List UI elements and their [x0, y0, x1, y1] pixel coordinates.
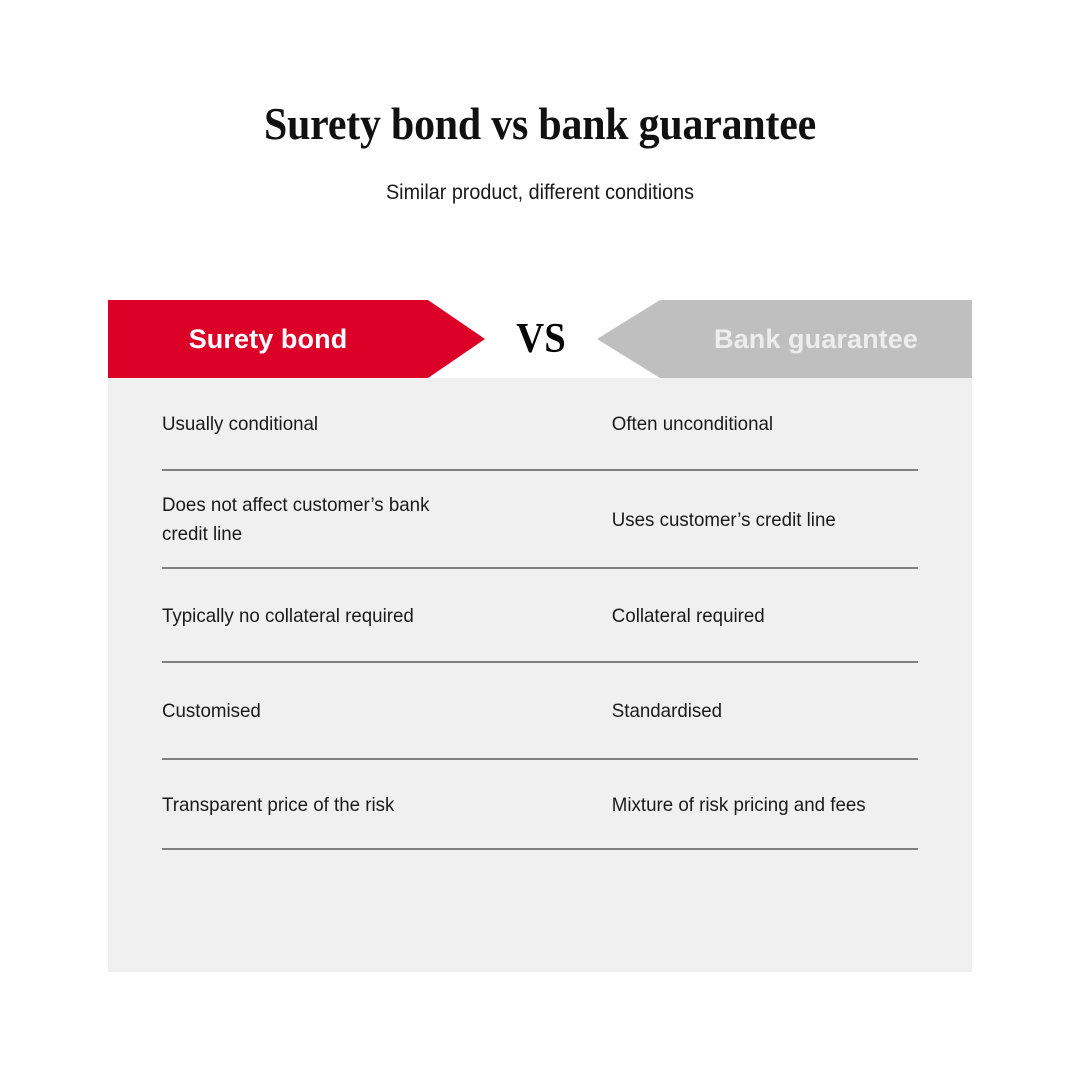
table-row: Typically no collateral required Collate… — [108, 569, 972, 663]
row-divider — [162, 848, 918, 850]
comparison-panel: Surety bond VS Bank guarantee Usually co… — [108, 300, 972, 972]
table-row: Does not affect customer’s bank credit l… — [108, 471, 972, 569]
page-title: Surety bond vs bank guarantee — [38, 98, 1042, 150]
comparison-infographic: Surety bond vs bank guarantee Similar pr… — [0, 0, 1080, 1080]
table-row: Customised Standardised — [108, 663, 972, 760]
row-left-value: Does not affect customer’s bank credit l… — [162, 491, 450, 549]
row-right-value: Mixture of risk pricing and fees — [462, 791, 900, 820]
comparison-rows: Usually conditional Often unconditional … — [108, 378, 972, 850]
surety-bond-header-label: Surety bond — [108, 300, 428, 378]
row-right-value: Standardised — [462, 697, 900, 726]
row-left-value: Transparent price of the risk — [162, 791, 450, 820]
comparison-header-band: Surety bond VS Bank guarantee — [108, 300, 972, 378]
row-left-value: Usually conditional — [162, 410, 450, 439]
row-right-value: Uses customer’s credit line — [462, 506, 900, 535]
row-left-value: Customised — [162, 697, 450, 726]
row-right-value: Often unconditional — [462, 410, 900, 439]
bank-guarantee-header-label: Bank guarantee — [660, 300, 972, 378]
versus-badge: VS — [489, 300, 592, 378]
row-left-value: Typically no collateral required — [162, 602, 450, 631]
table-row: Transparent price of the risk Mixture of… — [108, 760, 972, 850]
page-subtitle: Similar product, different conditions — [32, 181, 1047, 205]
row-right-value: Collateral required — [462, 602, 900, 631]
table-row: Usually conditional Often unconditional — [108, 378, 972, 471]
